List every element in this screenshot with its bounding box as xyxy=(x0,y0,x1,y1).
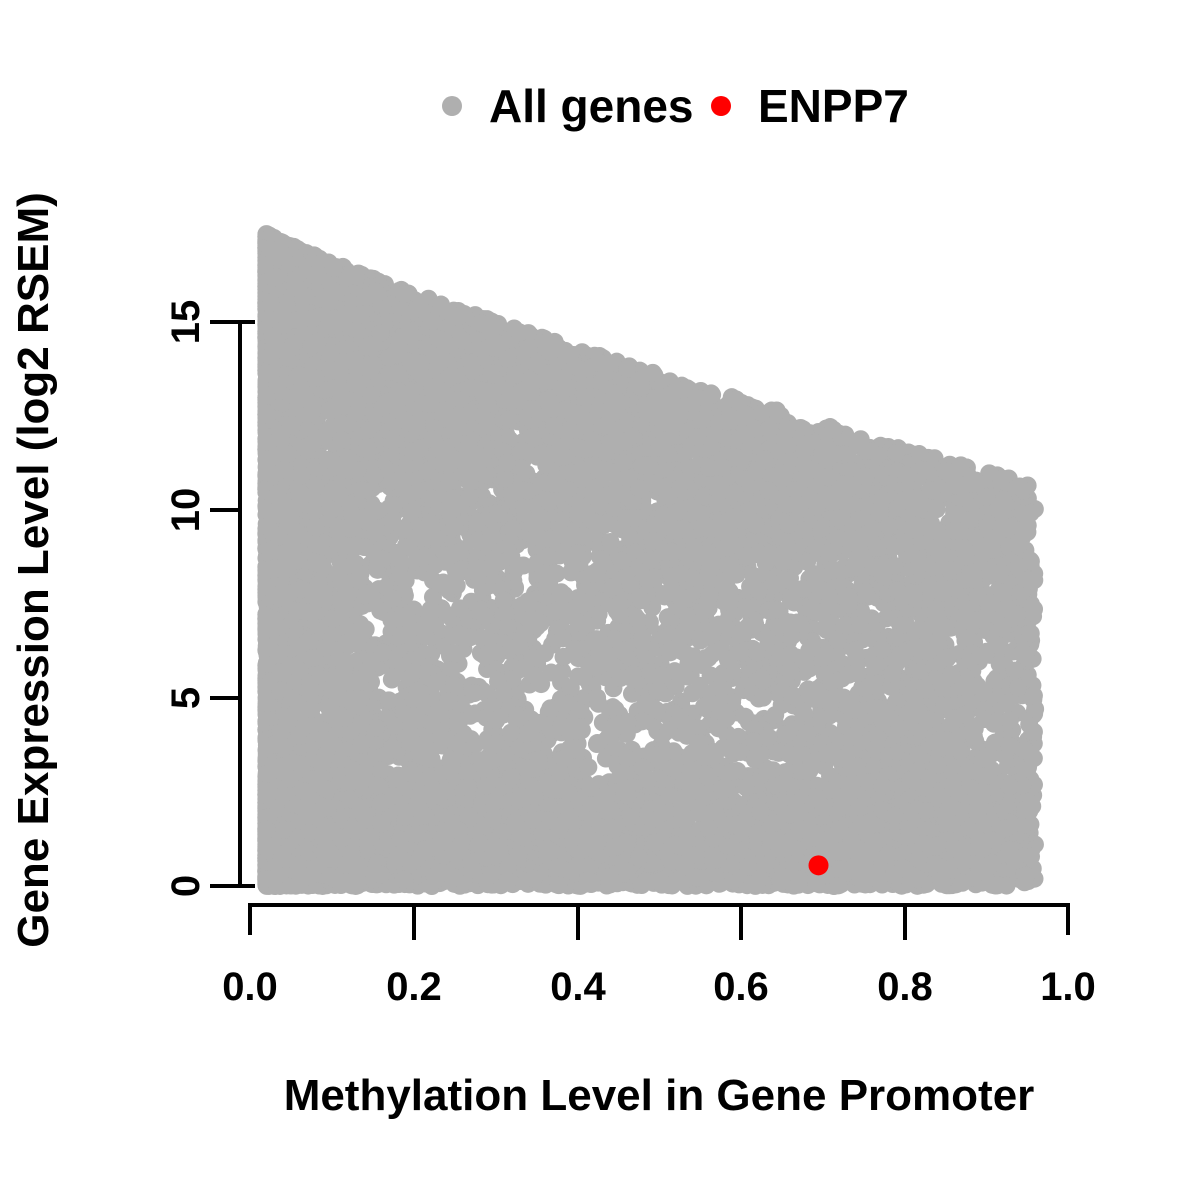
plot-canvas: 15 10 5 0 0.0 0.2 0.4 0.6 0.8 1.0 Methyl… xyxy=(0,0,1200,1200)
scatter-plot-figure: 15 10 5 0 0.0 0.2 0.4 0.6 0.8 1.0 Methyl… xyxy=(0,0,1200,1200)
